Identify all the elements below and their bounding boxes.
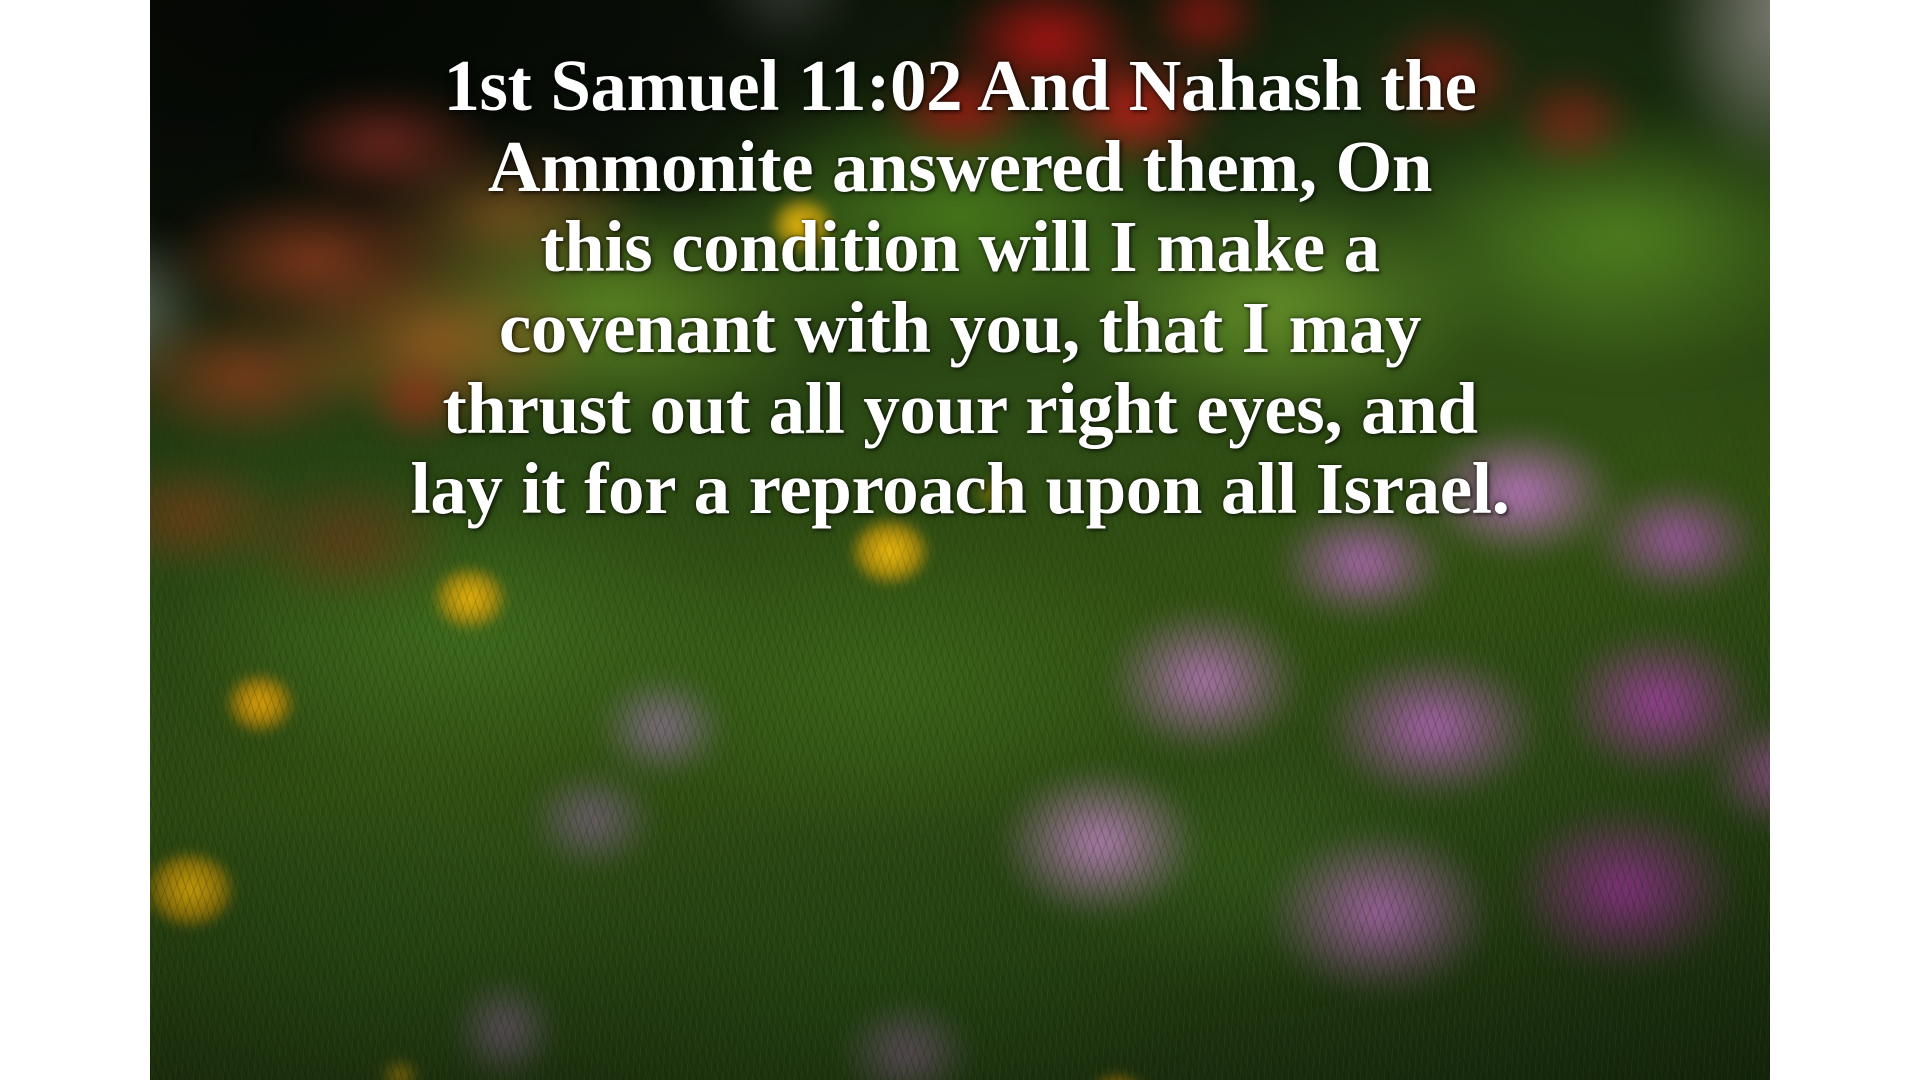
letterbox-right [1770,0,1920,1080]
photo-vignette [150,0,1770,1080]
garden-photo-background [150,0,1770,1080]
verse-image-canvas: 1st Samuel 11:02 And Nahash the Ammonite… [0,0,1920,1080]
letterbox-left [0,0,150,1080]
